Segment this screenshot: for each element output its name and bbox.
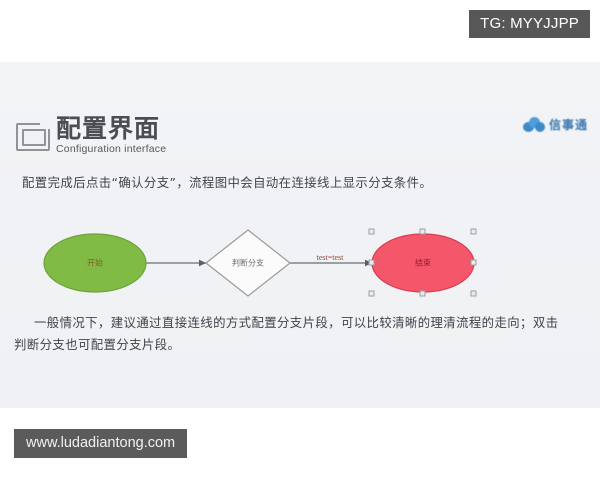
instruction-paragraph-bottom: 一般情况下，建议通过直接连线的方式配置分支片段，可以比较清晰的理清流程的走向；双…: [14, 312, 568, 355]
flow-node-end[interactable]: 结束: [372, 234, 474, 292]
brand-logo: 信事通: [523, 116, 588, 133]
selection-handle-sw: [369, 291, 374, 296]
selection-handle-se: [471, 291, 476, 296]
selection-handle-e: [471, 260, 476, 265]
flowchart-diagram: 开始 判断分支 test=test 结束: [0, 212, 600, 312]
window-frame-icon: [16, 123, 50, 151]
site-watermark: www.ludadiantong.com: [14, 429, 187, 459]
selection-handle-nw: [369, 229, 374, 234]
edge-condition-label: test=test: [317, 253, 345, 262]
instruction-paragraph-top: 配置完成后点击“确认分支”，流程图中会自动在连接线上显示分支条件。: [22, 172, 582, 194]
flow-node-start-label: 开始: [87, 258, 103, 268]
flow-node-start[interactable]: 开始: [44, 234, 146, 292]
selection-handle-w: [369, 260, 374, 265]
cloud-icon: [523, 117, 545, 132]
selection-handle-s: [420, 291, 425, 296]
selection-handle-ne: [471, 229, 476, 234]
edge-start-to-branch[interactable]: [146, 260, 206, 267]
tg-watermark-badge: TG: MYYJJPP: [469, 10, 590, 38]
brand-name: 信事通: [549, 116, 588, 133]
flow-node-branch-label: 判断分支: [232, 258, 264, 268]
selection-handle-n: [420, 229, 425, 234]
article-content-card: 配置界面 Configuration interface 信事通 配置完成后点击…: [0, 62, 600, 408]
page-subtitle: Configuration interface: [56, 144, 166, 155]
section-heading: 配置界面 Configuration interface: [16, 116, 166, 155]
flow-node-branch[interactable]: 判断分支: [206, 230, 290, 296]
flow-node-end-label: 结束: [415, 258, 431, 268]
page-title: 配置界面: [56, 116, 166, 141]
